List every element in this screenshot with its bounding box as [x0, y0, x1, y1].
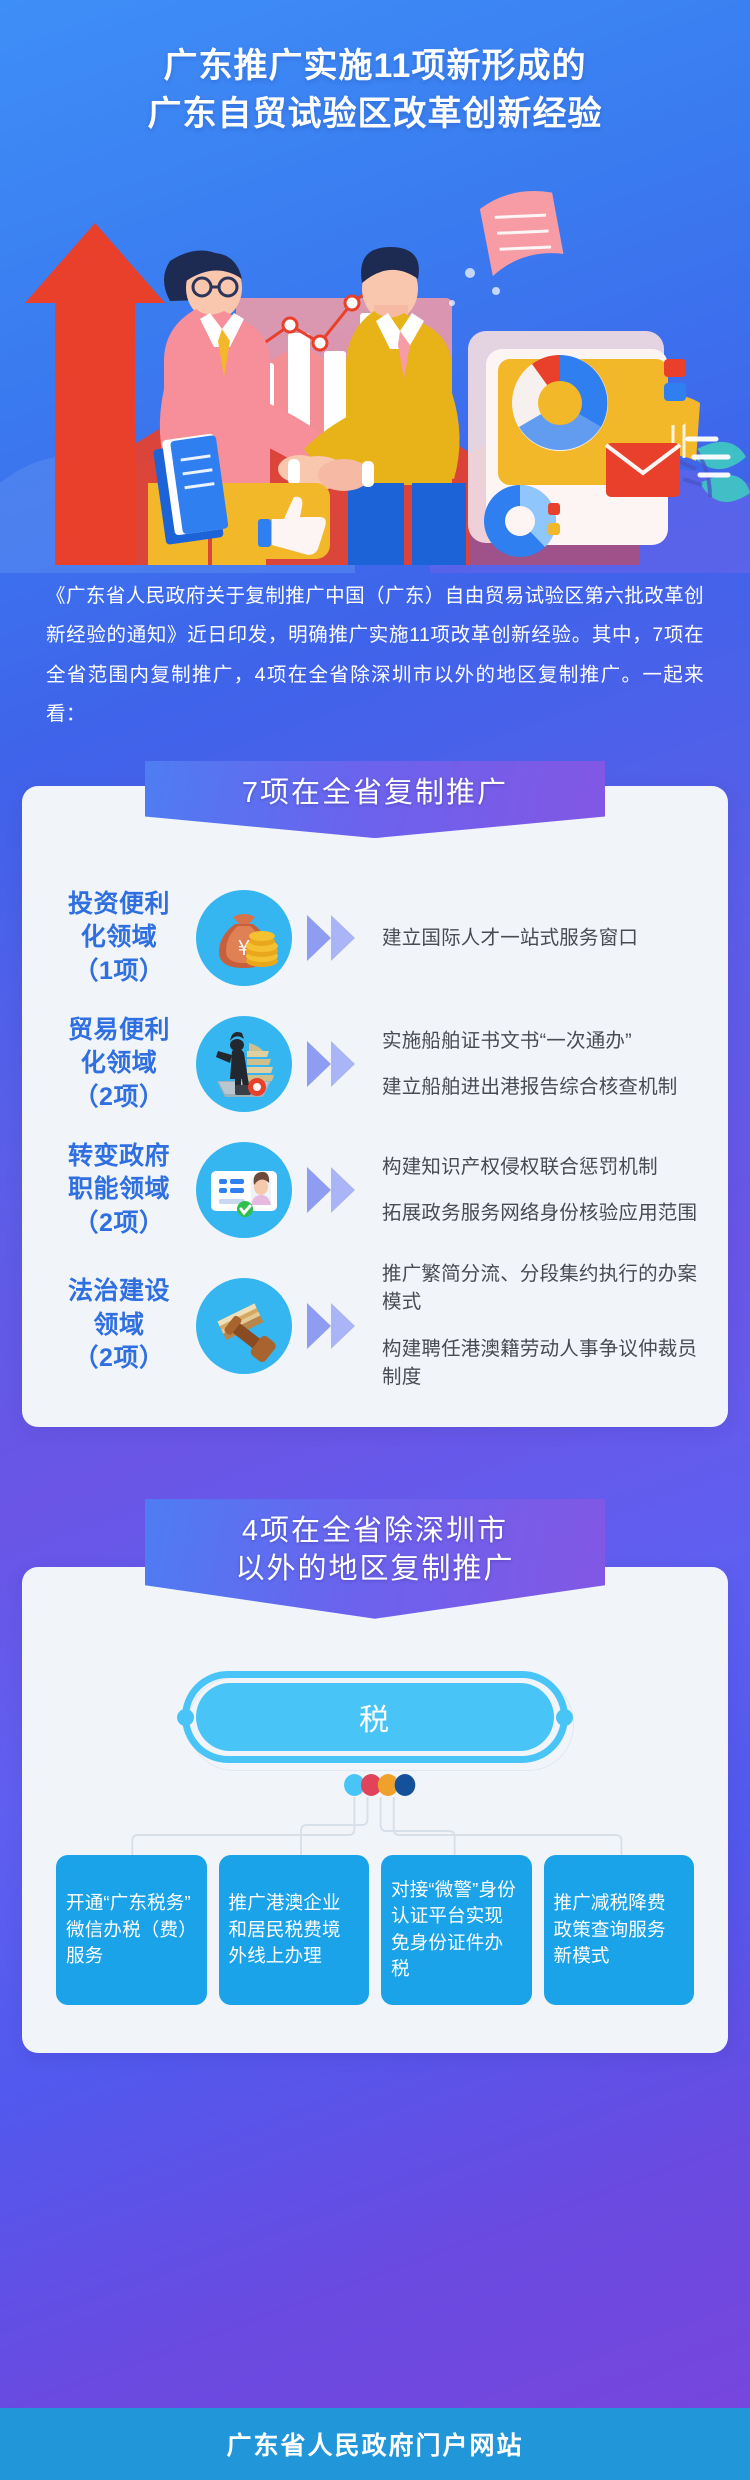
- domain-label: 贸易便利 化领域 （2项）: [44, 1014, 194, 1115]
- tax-leaf-4-label: 推广减税降费政策查询服务新模式: [554, 1890, 685, 1969]
- gavel-icon: [196, 1278, 292, 1374]
- domain-label-line-2: 领域: [44, 1309, 194, 1343]
- tax-leaf-3[interactable]: 对接“微警”身份认证平台实现免身份证件办税: [381, 1855, 532, 2005]
- double-chevron-icon: [298, 1165, 378, 1215]
- list-item: 实施船舶证书文书“一次通办”: [382, 1027, 706, 1055]
- domain-label-line-1: 转变政府: [44, 1140, 194, 1174]
- page-header: 广东推广实施11项新形成的 广东自贸试验区改革创新经验: [0, 0, 750, 139]
- money-bag-icon: ¥: [196, 890, 292, 986]
- domain-items: 建立国际人才一站式服务窗口: [378, 924, 710, 952]
- tax-leaf-3-label: 对接“微警”身份认证平台实现免身份证件办税: [391, 1877, 522, 1982]
- page-footer: 广东省人民政府门户网站: [0, 2408, 750, 2480]
- list-item: 推广繁简分流、分段集约执行的办案模式: [382, 1260, 706, 1317]
- double-chevron-icon: [298, 913, 378, 963]
- page-title-line-2: 广东自贸试验区改革创新经验: [0, 90, 750, 138]
- list-item: 建立国际人才一站式服务窗口: [382, 924, 706, 952]
- domain-label-line-3: （2项）: [44, 1342, 194, 1376]
- double-chevron-icon: [298, 1039, 378, 1089]
- tax-root-node: 税: [182, 1671, 568, 1763]
- tax-root-label: 税: [196, 1683, 554, 1751]
- domain-label-line-3: （2项）: [44, 1081, 194, 1115]
- domain-label-line-1: 贸易便利: [44, 1014, 194, 1048]
- table-row: 贸易便利 化领域 （2项）: [22, 1008, 728, 1120]
- list-item: 拓展政务服务网络身份核验应用范围: [382, 1199, 706, 1227]
- list-item: 构建知识产权侵权联合惩罚机制: [382, 1153, 706, 1181]
- domain-label-line-1: 法治建设: [44, 1275, 194, 1309]
- footer-site-name: 广东省人民政府门户网站: [226, 2426, 523, 2462]
- section-4-panel: 税 开通“广东税务”微信办税（费）服务 推广港澳企业和居民: [22, 1567, 728, 2053]
- tax-dot-left-icon: [177, 1709, 194, 1726]
- tax-leaf-2[interactable]: 推广港澳企业和居民税费境外线上办理: [219, 1855, 370, 2005]
- tax-leaf-2-label: 推广港澳企业和居民税费境外线上办理: [229, 1890, 360, 1969]
- intro-paragraph: 《广东省人民政府关于复制推广中国（广东）自由贸易试验区第六批改革创新经验的通知》…: [46, 577, 704, 735]
- domain-label: 法治建设 领域 （2项）: [44, 1275, 194, 1376]
- tax-tree: 税 开通“广东税务”微信办税（费）服务 推广港澳企业和居民: [22, 1671, 728, 2005]
- section-4-banner: 4项在全省除深圳市 以外的地区复制推广: [145, 1499, 605, 1619]
- tax-leaf-row: 开通“广东税务”微信办税（费）服务 推广港澳企业和居民税费境外线上办理 对接“微…: [48, 1855, 702, 2005]
- section-7-banner: 7项在全省复制推广: [145, 761, 605, 838]
- section-4-banner-wrap: 4项在全省除深圳市 以外的地区复制推广: [0, 1499, 750, 1619]
- tax-dot-right-icon: [556, 1709, 573, 1726]
- id-card-icon: [196, 1142, 292, 1238]
- domain-label-line-3: （2项）: [44, 1207, 194, 1241]
- domain-label: 转变政府 职能领域 （2项）: [44, 1140, 194, 1241]
- section-7-banner-wrap: 7项在全省复制推广: [0, 761, 750, 838]
- tax-leaf-4[interactable]: 推广减税降费政策查询服务新模式: [544, 1855, 695, 2005]
- domain-label: 投资便利 化领域 （1项）: [44, 888, 194, 989]
- double-chevron-icon: [298, 1301, 378, 1351]
- section-4-banner-line-1: 4项在全省除深圳市: [185, 1512, 565, 1550]
- domain-label-line-1: 投资便利: [44, 888, 194, 922]
- domain-items: 构建知识产权侵权联合惩罚机制 拓展政务服务网络身份核验应用范围: [378, 1153, 710, 1228]
- domain-items: 实施船舶证书文书“一次通办” 建立船舶进出港报告综合核查机制: [378, 1027, 710, 1102]
- table-row: 投资便利 化领域 （1项） ¥: [22, 882, 728, 994]
- domain-label-line-2: 职能领域: [44, 1173, 194, 1207]
- domain-label-line-3: （1项）: [44, 955, 194, 989]
- page-title-line-1: 广东推广实施11项新形成的: [0, 42, 750, 90]
- table-row: 法治建设 领域 （2项）: [22, 1260, 728, 1391]
- section-7-panel: 投资便利 化领域 （1项） ¥: [22, 786, 728, 1427]
- table-row: 转变政府 职能领域 （2项）: [22, 1134, 728, 1246]
- domain-label-line-2: 化领域: [44, 921, 194, 955]
- tree-connector: [48, 1767, 702, 1855]
- list-item: 建立船舶进出港报告综合核查机制: [382, 1073, 706, 1101]
- hero-illustration: [0, 153, 750, 573]
- tax-leaf-1-label: 开通“广东税务”微信办税（费）服务: [66, 1890, 197, 1969]
- section-4-banner-line-2: 以外的地区复制推广: [185, 1550, 565, 1588]
- domain-label-line-2: 化领域: [44, 1047, 194, 1081]
- tax-leaf-1[interactable]: 开通“广东税务”微信办税（费）服务: [56, 1855, 207, 2005]
- ship-icon: [196, 1016, 292, 1112]
- list-item: 构建聘任港澳籍劳动人事争议仲裁员制度: [382, 1335, 706, 1392]
- domain-items: 推广繁简分流、分段集约执行的办案模式 构建聘任港澳籍劳动人事争议仲裁员制度: [378, 1260, 710, 1391]
